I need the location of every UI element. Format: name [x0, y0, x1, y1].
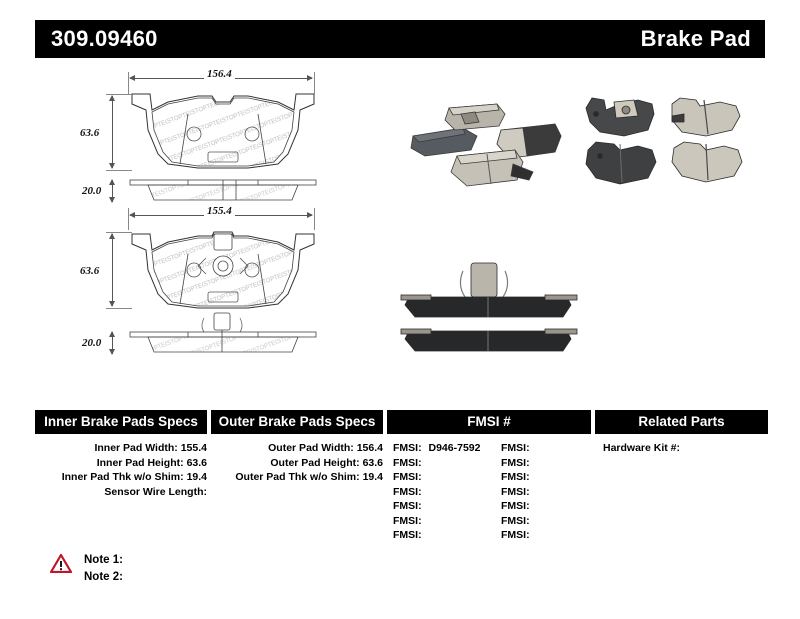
outer-pad-height-dim-label: 63.6 — [78, 125, 101, 141]
dim-ext-right-2 — [314, 208, 315, 230]
fmsi-label: FMSI: — [393, 457, 422, 469]
fmsi-row: FMSI: — [393, 514, 501, 529]
fmsi-label: FMSI: — [501, 515, 530, 527]
fmsi-row: FMSI: D946-7592 — [393, 441, 501, 456]
inner-pad-top-view-drawing: STOPTECH — [128, 228, 318, 312]
dim-arrow-down-2 — [109, 301, 115, 307]
column-header-outer-specs: Outer Brake Pads Specs — [211, 410, 383, 434]
fmsi-row: FMSI: — [501, 470, 591, 485]
fmsi-row: FMSI: — [393, 485, 501, 500]
spec-row: Sensor Wire Length: — [35, 485, 207, 500]
outer-pad-width-dim-label: 156.4 — [204, 68, 235, 80]
spec-row: Inner Pad Thk w/o Shim: 19.4 — [35, 470, 207, 485]
fmsi-row: FMSI: — [393, 470, 501, 485]
fmsi-value — [422, 457, 426, 469]
fmsi-value — [530, 442, 534, 454]
fmsi-label: FMSI: — [393, 515, 422, 527]
spec-value: 155.4 — [181, 442, 207, 454]
dim-arrow-left-1 — [129, 75, 135, 81]
fmsi-value — [530, 500, 534, 512]
spec-label: Outer Pad Height: — [270, 457, 359, 469]
fmsi-label: FMSI: — [393, 500, 422, 512]
dim-arrow-down-thk-1 — [109, 197, 115, 203]
spec-row: Inner Pad Height: 63.6 — [35, 456, 207, 471]
dim-ext-bottom-1 — [106, 170, 132, 171]
dim-line-height-1 — [112, 96, 113, 168]
part-number: 309.09460 — [51, 26, 158, 52]
fmsi-value — [530, 529, 534, 541]
fmsi-row: FMSI: — [393, 499, 501, 514]
dim-arrow-left-2 — [129, 212, 135, 218]
column-related-parts: Related Parts Hardware Kit #: — [595, 410, 768, 456]
fmsi-row: FMSI: — [501, 456, 591, 471]
dim-ext-right-1 — [314, 72, 315, 94]
column-header-fmsi: FMSI # — [387, 410, 591, 434]
notes-section: Note 1: Note 2: — [50, 552, 123, 586]
related-part-value — [680, 442, 684, 454]
spec-row: Outer Pad Thk w/o Shim: 19.4 — [211, 470, 383, 485]
dim-ext-bottom-2 — [106, 308, 132, 309]
spec-label: Inner Pad Width: — [94, 442, 177, 454]
column-header-inner-specs: Inner Brake Pads Specs — [35, 410, 207, 434]
fmsi-label: FMSI: — [501, 471, 530, 483]
spec-row: Inner Pad Width: 155.4 — [35, 441, 207, 456]
warning-triangle-icon — [50, 554, 72, 578]
dim-line-height-2 — [112, 234, 113, 306]
spec-row: Outer Pad Height: 63.6 — [211, 456, 383, 471]
spec-row: Outer Pad Width: 156.4 — [211, 441, 383, 456]
fmsi-label: FMSI: — [501, 500, 530, 512]
header-bar: 309.09460 Brake Pad — [35, 20, 765, 58]
spec-label: Inner Pad Thk w/o Shim: — [62, 471, 184, 483]
fmsi-value — [422, 515, 426, 527]
column-inner-specs: Inner Brake Pads Specs Inner Pad Width: … — [35, 410, 207, 499]
related-part-row: Hardware Kit #: — [603, 441, 768, 456]
note-line: Note 2: — [84, 569, 123, 586]
fmsi-value — [530, 457, 534, 469]
fmsi-label: FMSI: — [393, 471, 422, 483]
fmsi-value — [422, 500, 426, 512]
fmsi-subcolumn-left: FMSI: D946-7592 FMSI: FMSI: FMSI: FMSI: — [387, 441, 501, 543]
dim-arrow-down-thk-2 — [109, 349, 115, 355]
fmsi-value — [422, 471, 426, 483]
spec-value: 19.4 — [187, 471, 207, 483]
note-lines: Note 1: Note 2: — [84, 552, 123, 586]
inner-pad-edge-view-drawing: STOPTECH — [128, 312, 318, 356]
fmsi-label: FMSI: — [501, 457, 530, 469]
product-photo-edge-pads-with-sensor — [395, 255, 585, 365]
dim-arrow-up-thk-1 — [109, 179, 115, 185]
fmsi-value — [530, 515, 534, 527]
column-fmsi: FMSI # FMSI: D946-7592 FMSI: FMSI: FMSI: — [387, 410, 591, 543]
fmsi-row: FMSI: — [393, 456, 501, 471]
dim-arrow-up-2 — [109, 233, 115, 239]
fmsi-row: FMSI: — [501, 485, 591, 500]
column-header-related-parts: Related Parts — [595, 410, 768, 434]
inner-pad-width-dim-label: 155.4 — [204, 205, 235, 217]
column-body-fmsi: FMSI: D946-7592 FMSI: FMSI: FMSI: FMSI: — [387, 434, 591, 543]
outer-pad-top-view-drawing: STOPTECH — [128, 90, 318, 172]
dim-arrow-right-2 — [307, 212, 313, 218]
dim-arrow-right-1 — [307, 75, 313, 81]
fmsi-value — [422, 529, 426, 541]
fmsi-label: FMSI: — [393, 442, 422, 454]
fmsi-label: FMSI: — [501, 442, 530, 454]
fmsi-value: D946-7592 — [425, 442, 481, 454]
fmsi-value — [530, 471, 534, 483]
product-photo-pad-set — [405, 88, 565, 193]
inner-pad-height-dim-label: 63.6 — [78, 263, 101, 279]
page-title: Brake Pad — [641, 26, 751, 52]
spec-value: 156.4 — [357, 442, 383, 454]
inner-pad-thickness-dim-label: 20.0 — [80, 337, 103, 349]
note-line: Note 1: — [84, 552, 123, 569]
fmsi-value — [422, 486, 426, 498]
related-part-label: Hardware Kit #: — [603, 442, 680, 454]
fmsi-label: FMSI: — [393, 529, 422, 541]
fmsi-subcolumn-right: FMSI: FMSI: FMSI: FMSI: FMSI: — [501, 441, 591, 543]
spec-value: 63.6 — [363, 457, 383, 469]
spec-value: 63.6 — [187, 457, 207, 469]
fmsi-row: FMSI: — [393, 528, 501, 543]
column-body-related-parts: Hardware Kit #: — [595, 434, 768, 456]
fmsi-value — [530, 486, 534, 498]
spec-label: Outer Pad Width: — [268, 442, 354, 454]
fmsi-label: FMSI: — [501, 486, 530, 498]
column-body-inner-specs: Inner Pad Width: 155.4 Inner Pad Height:… — [35, 434, 207, 499]
outer-pad-thickness-dim-label: 20.0 — [80, 185, 103, 197]
spec-label: Sensor Wire Length: — [104, 486, 207, 498]
technical-drawings-area: STOPTECH 156.4 63.6 STOPTECH — [0, 60, 800, 390]
outer-pad-edge-view-drawing: STOPTECH — [128, 178, 318, 204]
specs-table: Inner Brake Pads Specs Inner Pad Width: … — [35, 410, 768, 540]
fmsi-label: FMSI: — [501, 529, 530, 541]
fmsi-row: FMSI: — [501, 514, 591, 529]
product-photo-four-pads — [580, 86, 760, 196]
fmsi-row: FMSI: — [501, 499, 591, 514]
column-outer-specs: Outer Brake Pads Specs Outer Pad Width: … — [211, 410, 383, 485]
spec-label: Inner Pad Height: — [97, 457, 184, 469]
spec-value: 19.4 — [363, 471, 383, 483]
fmsi-row: FMSI: — [501, 528, 591, 543]
dim-arrow-up-thk-2 — [109, 331, 115, 337]
column-body-outer-specs: Outer Pad Width: 156.4 Outer Pad Height:… — [211, 434, 383, 485]
fmsi-row: FMSI: — [501, 441, 591, 456]
spec-label: Outer Pad Thk w/o Shim: — [235, 471, 359, 483]
dim-arrow-up-1 — [109, 95, 115, 101]
dim-arrow-down-1 — [109, 163, 115, 169]
fmsi-label: FMSI: — [393, 486, 422, 498]
